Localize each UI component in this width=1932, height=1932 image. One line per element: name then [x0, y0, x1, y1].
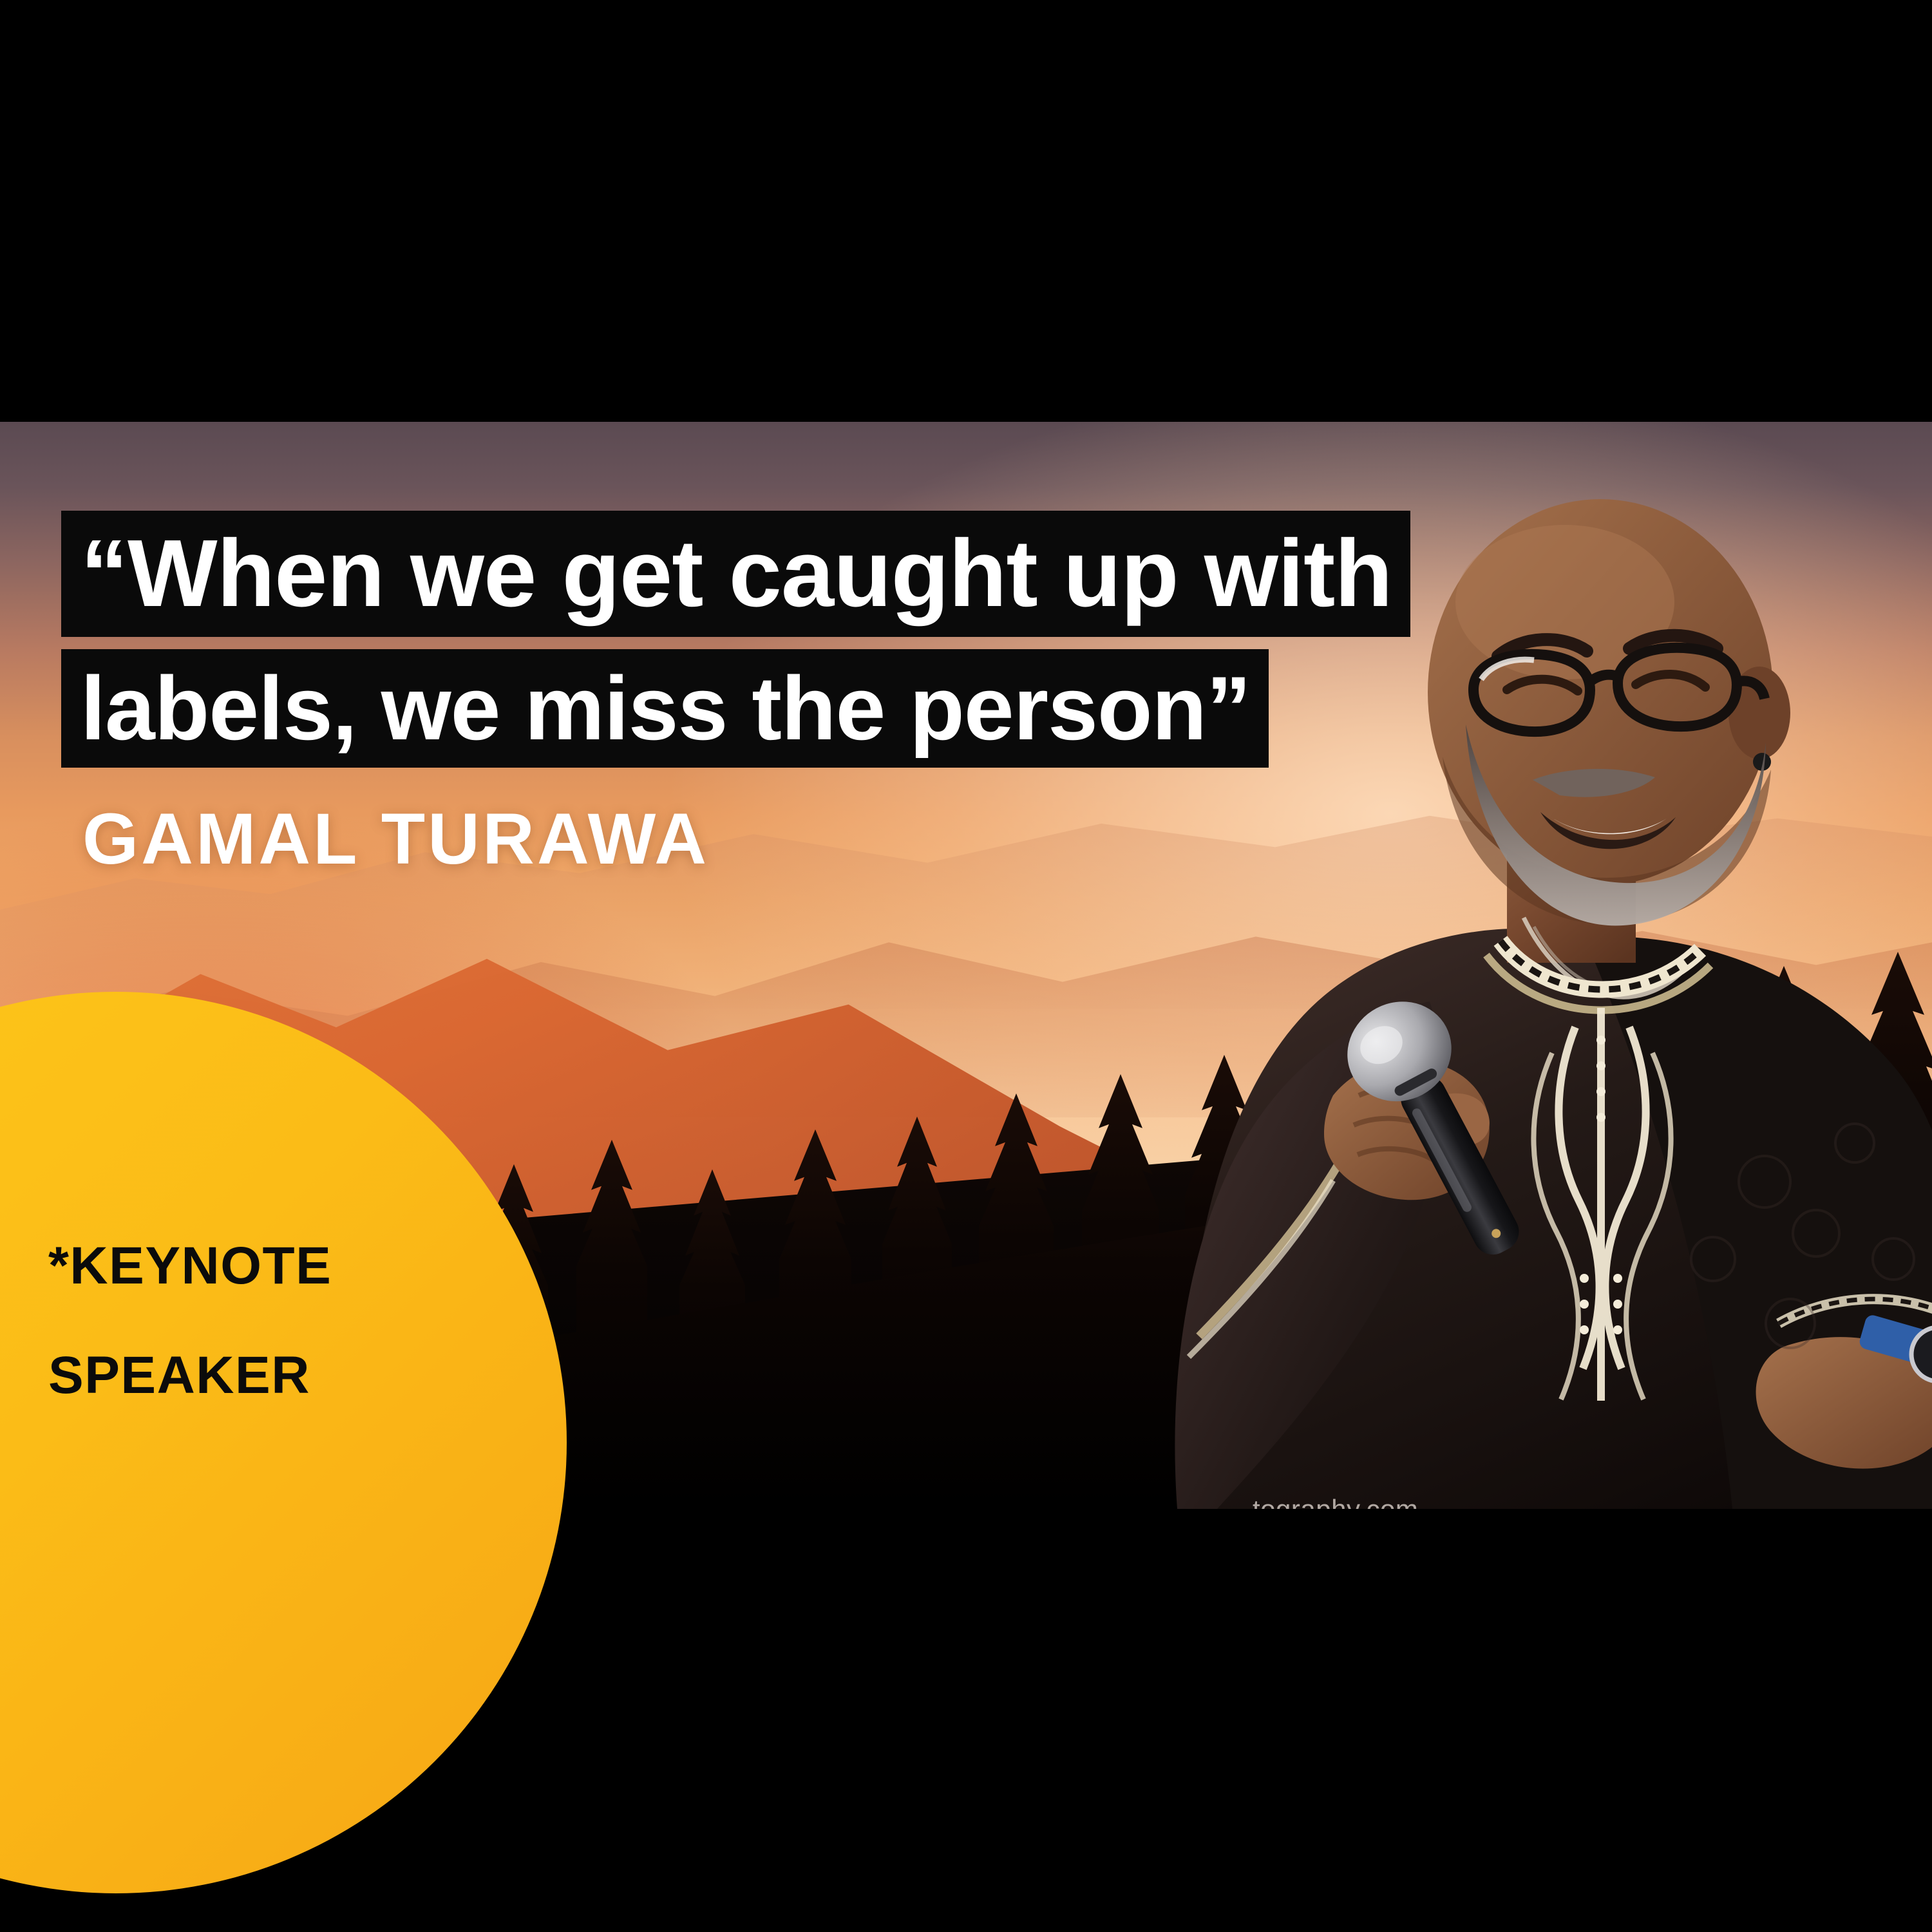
photographer-watermark: tography.com — [1253, 1494, 1418, 1509]
quote-line-2: labels, we miss the person” — [61, 649, 1269, 768]
keynote-badge-text: *KEYNOTE SPEAKER — [48, 1240, 332, 1402]
badge-line-speaker: SPEAKER — [48, 1349, 332, 1402]
speaker-name: GAMAL TURAWA — [82, 797, 709, 880]
screenshot-canvas: tography.com *KEYNOTE SPEAKER “When we g… — [0, 0, 1932, 1932]
badge-line-keynote: *KEYNOTE — [48, 1240, 332, 1293]
quote-line-1: “When we get caught up with — [61, 511, 1410, 637]
